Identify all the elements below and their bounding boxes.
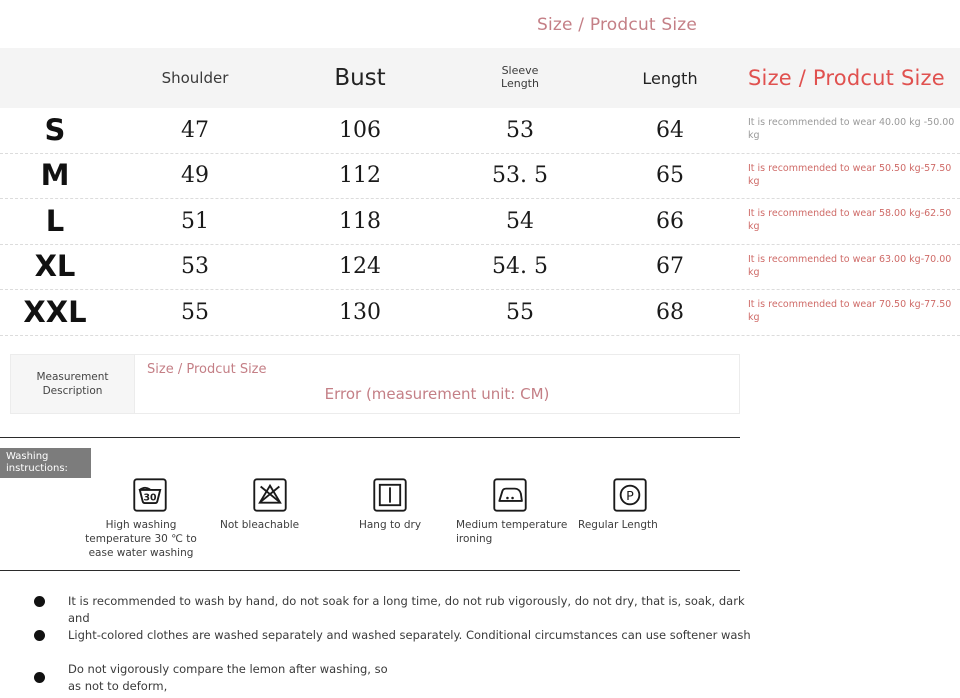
value-bust: 130 <box>339 300 381 325</box>
washing-symbol-caption: Hang to dry <box>359 518 421 532</box>
care-note-text: Do not vigorously compare the lemon afte… <box>68 661 398 694</box>
header-cell-length: Length <box>600 48 740 108</box>
value-bust: 112 <box>339 163 381 188</box>
care-note-text: Light-colored clothes are washed separat… <box>68 627 751 644</box>
value-length: 66 <box>656 209 684 234</box>
washing-label-text: Washinginstructions: <box>6 451 68 476</box>
cell-recommendation: It is recommended to wear 70.50 kg-77.50… <box>740 290 960 335</box>
value-recommendation: It is recommended to wear 70.50 kg-77.50… <box>748 299 960 325</box>
header-label-sleeve-line2: Length <box>501 77 539 90</box>
cell-bust: 112 <box>280 154 440 199</box>
value-recommendation: It is recommended to wear 50.50 kg-57.50… <box>748 163 960 189</box>
size-label: S <box>45 116 66 145</box>
washing-symbol-item: Not bleachable <box>210 478 330 532</box>
hang-to-dry-icon <box>373 478 407 512</box>
header-cell-sleeve-length: SleeveLength <box>440 48 600 108</box>
svg-text:P: P <box>626 489 634 504</box>
size-label: L <box>46 207 64 236</box>
cell-length: 65 <box>600 154 740 199</box>
value-sleeve: 55 <box>506 300 534 325</box>
care-notes-list: It is recommended to wash by hand, do no… <box>0 588 760 690</box>
value-shoulder: 53 <box>181 254 209 279</box>
value-sleeve: 53 <box>506 118 534 143</box>
cell-shoulder: 51 <box>110 199 280 244</box>
measurement-description-label: MeasurementDescription <box>11 355 135 413</box>
header-label-sleeve-line1: Sleeve <box>502 64 539 77</box>
no-bleach-triangle-icon <box>253 478 287 512</box>
value-sleeve: 54. 5 <box>492 254 548 279</box>
washing-symbol-caption: Not bleachable <box>220 518 299 532</box>
header-label-length: Length <box>642 69 697 88</box>
washing-symbol-caption: High washing temperature 30 ℃ to ease wa… <box>72 518 210 561</box>
size-label: M <box>41 161 70 190</box>
value-length: 65 <box>656 163 684 188</box>
cell-length: 68 <box>600 290 740 335</box>
header-label-sleeve-length: SleeveLength <box>501 65 539 90</box>
cell-sleeve: 53. 5 <box>440 154 600 199</box>
value-shoulder: 47 <box>181 118 209 143</box>
bullet-icon <box>34 596 45 607</box>
svg-text:30: 30 <box>143 493 157 504</box>
cell-shoulder: 49 <box>110 154 280 199</box>
divider-above-washing <box>0 437 740 438</box>
washing-symbol-caption: Medium temperature ironing <box>456 518 570 546</box>
cell-recommendation: It is recommended to wear 50.50 kg-57.50… <box>740 154 960 199</box>
cell-length: 66 <box>600 199 740 244</box>
washing-symbol-item: P Regular Length <box>570 478 690 532</box>
value-length: 68 <box>656 300 684 325</box>
table-header-row: Shoulder Bust SleeveLength Length Size /… <box>0 48 960 108</box>
bullet-icon <box>34 672 45 683</box>
value-length: 64 <box>656 118 684 143</box>
value-bust: 106 <box>339 118 381 143</box>
header-label-bust: Bust <box>334 65 385 91</box>
iron-medium-temperature-icon <box>493 478 527 512</box>
bullet-icon <box>34 630 45 641</box>
value-recommendation: It is recommended to wear 40.00 kg -50.0… <box>748 117 960 143</box>
top-size-caption: Size / Prodcut Size <box>537 6 742 43</box>
cell-bust: 106 <box>280 108 440 153</box>
value-sleeve: 54 <box>506 209 534 234</box>
table-row: L 51 118 54 66 It is recommended to wear… <box>0 199 960 245</box>
size-chart-table: Shoulder Bust SleeveLength Length Size /… <box>0 48 960 336</box>
cell-bust: 118 <box>280 199 440 244</box>
measurement-error-note: Error (measurement unit: CM) <box>135 385 739 403</box>
washing-instructions-label: Washinginstructions: <box>0 448 91 478</box>
cell-sleeve: 54. 5 <box>440 245 600 290</box>
washing-symbol-item: Medium temperature ironing <box>450 478 570 546</box>
measurement-label-line2: Description <box>43 385 103 397</box>
header-label-shoulder: Shoulder <box>162 69 229 87</box>
cell-recommendation: It is recommended to wear 58.00 kg-62.50… <box>740 199 960 244</box>
cell-size: S <box>0 108 110 153</box>
header-label-recommendation: Size / Prodcut Size <box>748 66 945 90</box>
list-item: Light-colored clothes are washed separat… <box>0 622 760 656</box>
header-cell-shoulder: Shoulder <box>110 48 280 108</box>
size-label: XL <box>35 252 76 281</box>
size-label: XXL <box>23 298 86 327</box>
value-sleeve: 53. 5 <box>492 163 548 188</box>
washing-symbol-item: Hang to dry <box>330 478 450 532</box>
cell-size: L <box>0 199 110 244</box>
list-item: It is recommended to wash by hand, do no… <box>0 588 760 622</box>
washing-symbol-caption: Regular Length <box>578 518 658 532</box>
cell-size: XL <box>0 245 110 290</box>
professional-clean-p-icon: P <box>613 478 647 512</box>
cell-size: M <box>0 154 110 199</box>
cell-length: 64 <box>600 108 740 153</box>
cell-shoulder: 55 <box>110 290 280 335</box>
header-cell-bust: Bust <box>280 48 440 108</box>
cell-bust: 130 <box>280 290 440 335</box>
cell-shoulder: 53 <box>110 245 280 290</box>
cell-size: XXL <box>0 290 110 335</box>
wash-tub-30-icon: 30 <box>133 478 167 512</box>
measurement-sub-caption: Size / Prodcut Size <box>147 362 267 377</box>
washing-symbol-item: 30 High washing temperature 30 ℃ to ease… <box>90 478 210 561</box>
washing-label-line2: instructions: <box>6 463 68 474</box>
list-item: Do not vigorously compare the lemon afte… <box>0 656 760 690</box>
measurement-description-content: Size / Prodcut Size Error (measurement u… <box>135 355 739 413</box>
value-length: 67 <box>656 254 684 279</box>
value-shoulder: 55 <box>181 300 209 325</box>
measurement-label-text: MeasurementDescription <box>36 370 108 398</box>
measurement-description-box: MeasurementDescription Size / Prodcut Si… <box>10 354 740 414</box>
header-cell-recommendation: Size / Prodcut Size <box>740 48 960 108</box>
care-note-text: It is recommended to wash by hand, do no… <box>68 593 760 626</box>
measurement-label-line1: Measurement <box>36 371 108 383</box>
cell-recommendation: It is recommended to wear 63.00 kg-70.00… <box>740 245 960 290</box>
table-row: XXL 55 130 55 68 It is recommended to we… <box>0 290 960 336</box>
table-row: M 49 112 53. 5 65 It is recommended to w… <box>0 154 960 200</box>
washing-symbols-row: 30 High washing temperature 30 ℃ to ease… <box>90 478 740 564</box>
divider-below-washing <box>0 570 740 571</box>
cell-sleeve: 53 <box>440 108 600 153</box>
value-shoulder: 49 <box>181 163 209 188</box>
cell-bust: 124 <box>280 245 440 290</box>
cell-recommendation: It is recommended to wear 40.00 kg -50.0… <box>740 108 960 153</box>
table-row: S 47 106 53 64 It is recommended to wear… <box>0 108 960 154</box>
header-cell-size <box>0 48 110 108</box>
value-recommendation: It is recommended to wear 58.00 kg-62.50… <box>748 208 960 234</box>
table-row: XL 53 124 54. 5 67 It is recommended to … <box>0 245 960 291</box>
value-bust: 118 <box>339 209 381 234</box>
value-recommendation: It is recommended to wear 63.00 kg-70.00… <box>748 254 960 280</box>
value-shoulder: 51 <box>181 209 209 234</box>
value-bust: 124 <box>339 254 381 279</box>
cell-shoulder: 47 <box>110 108 280 153</box>
cell-sleeve: 55 <box>440 290 600 335</box>
cell-sleeve: 54 <box>440 199 600 244</box>
washing-label-line1: Washing <box>6 451 48 462</box>
cell-length: 67 <box>600 245 740 290</box>
